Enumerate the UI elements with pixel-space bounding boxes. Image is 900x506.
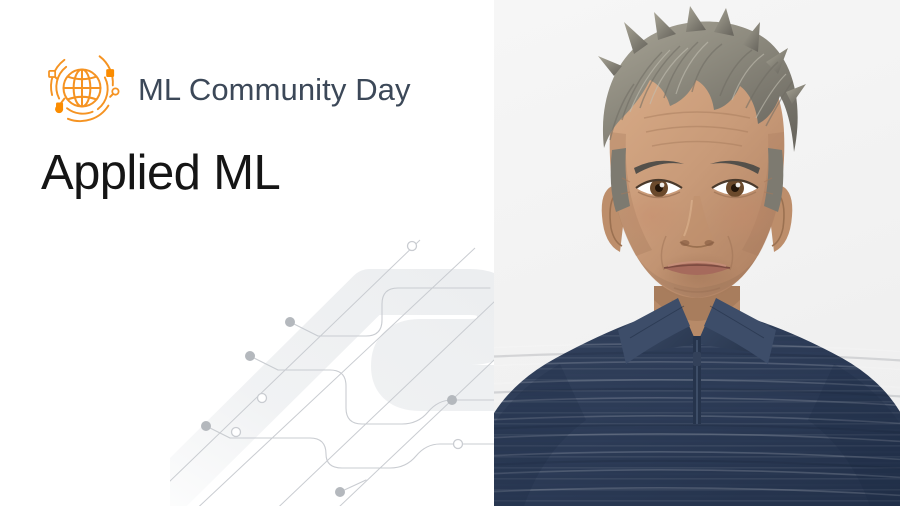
circuit-node-group xyxy=(201,317,457,497)
logo-node-square xyxy=(106,69,114,77)
speaker-photo-panel xyxy=(494,0,900,506)
brand-name-text: ML Community Day xyxy=(138,74,411,105)
page-title: Applied ML xyxy=(41,146,280,201)
circuit-traces-decoration xyxy=(170,230,494,506)
slide-root: ML Community Day Applied ML xyxy=(0,0,900,506)
left-content-panel: ML Community Day Applied ML xyxy=(0,0,494,506)
speaker-portrait xyxy=(494,0,900,506)
globe-orbit-network-icon xyxy=(38,44,126,132)
brand-lockup: ML Community Day xyxy=(38,44,411,132)
